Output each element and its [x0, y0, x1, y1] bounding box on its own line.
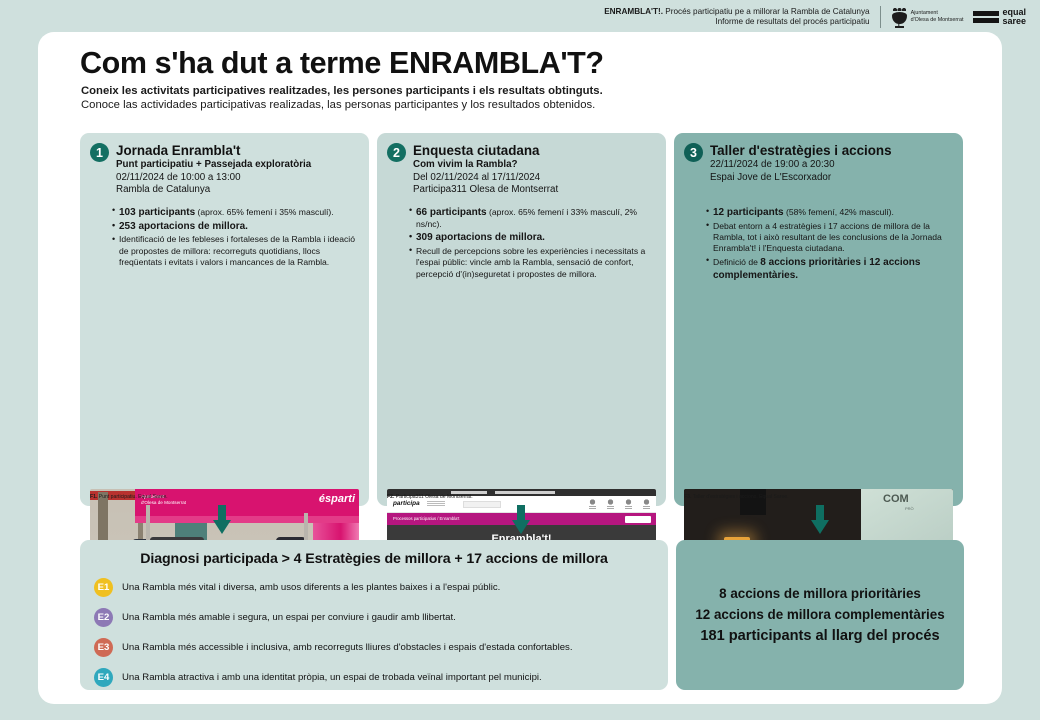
card-1-participants: 103 participants: [119, 207, 195, 218]
menu-icon[interactable]: [643, 499, 650, 509]
card-2-bullet-3: Recull de percepcions sobre les experièn…: [409, 246, 656, 280]
equal-saree-line2: saree: [1002, 17, 1026, 26]
logo-ajuntament: Ajuntament d'Olesa de Montserrat: [891, 6, 964, 28]
card-3-bullet-3: Definició de 8 accions prioritàries i 12…: [706, 256, 953, 283]
strategy-text-e2: Una Rambla més amable i segura, un espai…: [122, 612, 456, 623]
card-2-number: 2: [387, 143, 406, 162]
page-title: Com s'ha dut a terme ENRAMBLA'T?: [80, 46, 604, 81]
card-3-caption-text: Taller d'estratègies i accions. Equal Sa…: [691, 494, 788, 500]
header-line-1: ENRAMBLA'T!. Procés participatiu pe a mi…: [604, 7, 869, 17]
card-3-heading-text: Taller d'estratègies i accions 22/11/202…: [710, 142, 892, 184]
arrow-down-icon-3: [811, 505, 829, 535]
website-search-input[interactable]: [463, 501, 501, 508]
card-3-bullets: 12 participants (58% femení, 42% masculí…: [706, 206, 953, 282]
activity-card-1: 1 Jornada Enrambla't Punt participatiu +…: [80, 133, 369, 506]
card-2-bullet-1: 66 participants (aprox. 65% femení i 33%…: [409, 206, 656, 231]
card-2-header: 2 Enquesta ciutadana Com vivim la Rambla…: [387, 142, 656, 197]
card-2-place: Participa311 Olesa de Montserrat: [413, 184, 558, 197]
ajuntament-crest-icon: [891, 6, 908, 28]
card-1-header: 1 Jornada Enrambla't Punt participatiu +…: [90, 142, 359, 197]
card-1-title: Jornada Enrambla't: [116, 142, 311, 159]
strategy-item-4: E4 Una Rambla atractiva i amb una identi…: [94, 668, 654, 687]
card-3-place: Espai Jove de L'Escorxador: [710, 172, 892, 185]
arrow-down-icon-2: [512, 505, 530, 535]
card-2-date: Del 02/11/2024 al 17/11/2024: [413, 172, 558, 185]
card-2-participants: 66 participants: [416, 207, 487, 218]
card-1-participants-detail: (aprox. 65% femení i 35% masculí).: [195, 207, 334, 217]
card-3-participants-detail: (58% femení, 42% masculí).: [784, 207, 894, 217]
card-2-title: Enquesta ciutadana: [413, 142, 558, 159]
globe-icon[interactable]: [625, 499, 632, 509]
card-1-bullet-3: Identificació de les febleses i fortales…: [112, 234, 359, 268]
card-3-participants: 12 participants: [713, 207, 784, 218]
card-2-heading-text: Enquesta ciutadana Com vivim la Rambla? …: [413, 142, 558, 197]
card-1-heading-text: Jornada Enrambla't Punt participatiu + P…: [116, 142, 311, 197]
logo-ajuntament-line1: Ajuntament: [911, 10, 964, 17]
content-sheet: Com s'ha dut a terme ENRAMBLA'T? Coneix …: [38, 32, 1002, 704]
page-subtitle-es: Conoce las actividades participativas re…: [81, 99, 595, 111]
card-3-bullet-2: Debat entorn a 4 estratègies i 17 accion…: [706, 221, 953, 255]
card-1-subtitle: Punt participatiu + Passejada exploratòr…: [116, 159, 311, 172]
header-project-name: ENRAMBLA'T!.: [604, 7, 663, 16]
header-divider: [880, 6, 881, 28]
activity-card-2: 2 Enquesta ciutadana Com vivim la Rambla…: [377, 133, 666, 506]
website-logo: participa: [393, 500, 420, 507]
card-2-caption: F2. Participa311 Olesa de Montserrat.: [387, 494, 473, 500]
document-header: ENRAMBLA'T!. Procés participatiu pe a mi…: [0, 0, 1040, 34]
user-icon[interactable]: [589, 499, 596, 509]
card-1-caption: F1. Punt participatiu. Equal Saree.: [90, 494, 168, 500]
card-3-caption: F3. Taller d'estratègies i accions. Equa…: [684, 494, 789, 500]
card-3-date: 22/11/2024 de 19:00 a 20:30: [710, 159, 892, 172]
strategy-badge-e2: E2: [94, 608, 113, 627]
card-1-bullet-2: 253 aportacions de millora.: [112, 220, 359, 233]
card-1-number: 1: [90, 143, 109, 162]
card-1-bullets: 103 participants (aprox. 65% femení i 35…: [112, 206, 359, 269]
strategy-text-e3: Una Rambla més accessible i inclusiva, a…: [122, 642, 573, 653]
activity-cards: 1 Jornada Enrambla't Punt participatiu +…: [80, 133, 964, 506]
strategy-text-e1: Una Rambla més vital i diversa, amb usos…: [122, 582, 500, 593]
card-2-caption-text: Participa311 Olesa de Montserrat.: [394, 494, 472, 500]
logo-equal-saree: equal saree: [973, 8, 1026, 27]
logo-ajuntament-line2: d'Olesa de Montserrat: [911, 17, 964, 24]
strategy-item-3: E3 Una Rambla més accessible i inclusiva…: [94, 638, 654, 657]
card-2-bullet-2: 309 aportacions de millora.: [409, 231, 656, 244]
header-text-block: ENRAMBLA'T!. Procés participatiu pe a mi…: [604, 7, 869, 28]
card-3-number: 3: [684, 143, 703, 162]
website-breadcrumb[interactable]: Processos participatius / Enrambla't: [393, 516, 459, 521]
card-3-bullet-3-prefix: Definició de: [713, 257, 760, 267]
website-nav-icons[interactable]: [589, 499, 650, 509]
strategy-text-e4: Una Rambla atractiva i amb una identitat…: [122, 672, 542, 683]
arrow-down-icon-1: [213, 505, 231, 535]
card-2-subtitle: Com vivim la Rambla?: [413, 159, 558, 172]
results-priority-actions: 8 accions de millora prioritàries: [719, 586, 921, 601]
strategy-badge-e3: E3: [94, 638, 113, 657]
page-subtitle-ca: Coneix les activitats participatives rea…: [81, 85, 603, 97]
website-login-button[interactable]: [625, 516, 651, 523]
card-1-date: 02/11/2024 de 10:00 a 13:00: [116, 172, 311, 185]
photo-1-tent-brand: ésparti: [319, 493, 355, 505]
card-2-bullets: 66 participants (aprox. 65% femení i 33%…: [409, 206, 656, 280]
strategy-item-1: E1 Una Rambla més vital i diversa, amb u…: [94, 578, 654, 597]
poster-root: ENRAMBLA'T!. Procés participatiu pe a mi…: [0, 0, 1040, 720]
diagnosis-heading: Diagnosi participada > 4 Estratègies de …: [94, 551, 654, 567]
card-1-bullet-1: 103 participants (aprox. 65% femení i 35…: [112, 206, 359, 219]
diagnosis-panel: Diagnosi participada > 4 Estratègies de …: [80, 540, 668, 690]
card-3-bullet-1: 12 participants (58% femení, 42% masculí…: [706, 206, 953, 219]
results-complementary-actions: 12 accions de millora complementàries: [695, 607, 944, 623]
photo-3-screen-text-2: PRÒ: [905, 506, 914, 511]
header-project-desc: Procés participatiu pe a millorar la Ram…: [663, 7, 870, 16]
strategy-item-2: E2 Una Rambla més amable i segura, un es…: [94, 608, 654, 627]
results-total-participants: 181 participants al llarg del procés: [700, 628, 939, 644]
header-line-2: Informe de resultats del procés particip…: [604, 17, 869, 27]
help-icon[interactable]: [607, 499, 614, 509]
card-1-place: Rambla de Catalunya: [116, 184, 311, 197]
results-panel: 8 accions de millora prioritàries 12 acc…: [676, 540, 964, 690]
strategy-badge-e1: E1: [94, 578, 113, 597]
card-1-caption-text: Punt participatiu. Equal Saree.: [97, 494, 167, 500]
equal-saree-bars-icon: [973, 11, 999, 23]
logo-ajuntament-text: Ajuntament d'Olesa de Montserrat: [911, 10, 964, 25]
strategy-badge-e4: E4: [94, 668, 113, 687]
activity-card-3: 3 Taller d'estratègies i accions 22/11/2…: [674, 133, 963, 506]
photo-3-screen-text: COM: [883, 493, 909, 505]
card-3-title: Taller d'estratègies i accions: [710, 142, 892, 159]
equal-saree-text: equal saree: [1002, 8, 1026, 27]
card-3-header: 3 Taller d'estratègies i accions 22/11/2…: [684, 142, 953, 184]
